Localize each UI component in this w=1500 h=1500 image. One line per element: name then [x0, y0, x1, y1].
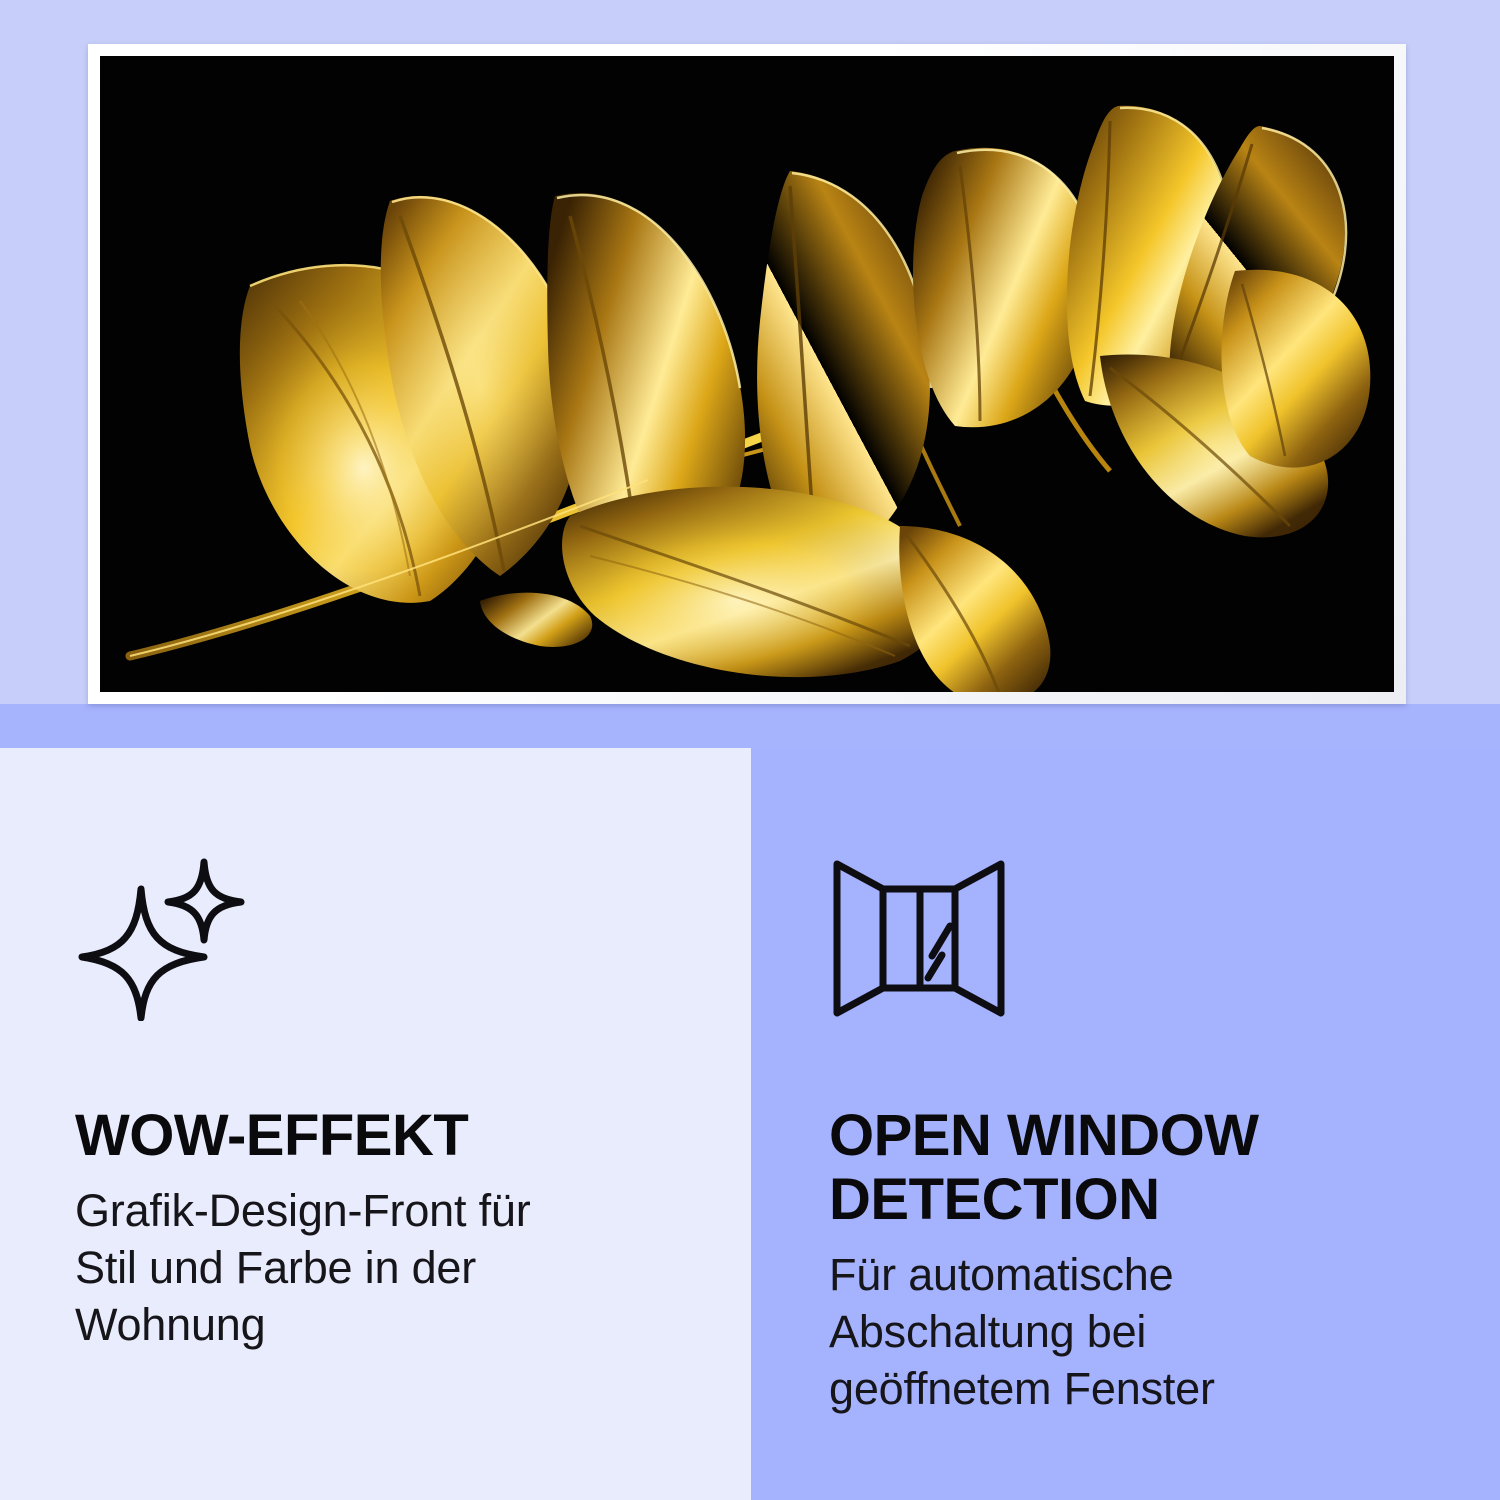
product-feature-page: WOW-EFFEKT Grafik-Design-Front für Stil …: [0, 0, 1500, 1500]
feature-description: Grafik-Design-Front für Stil und Farbe i…: [75, 1182, 545, 1353]
feature-panel-wow-effekt: WOW-EFFEKT Grafik-Design-Front für Stil …: [0, 748, 751, 1500]
feature-title: OPEN WINDOW DETECTION: [829, 1104, 1349, 1232]
feature-panel-open-window-detection: OPEN WINDOW DETECTION Für automatische A…: [751, 748, 1500, 1500]
artwork-canvas: [100, 56, 1394, 692]
features-section: WOW-EFFEKT Grafik-Design-Front für Stil …: [0, 748, 1500, 1500]
golden-leaves-image: [100, 56, 1394, 692]
hero-bottom-band: [0, 704, 1500, 748]
framed-artwork: [88, 44, 1406, 704]
feature-title: WOW-EFFEKT: [75, 1104, 681, 1168]
sparkle-icon: [75, 856, 681, 1026]
feature-description: Für automatische Abschaltung bei geöffne…: [829, 1246, 1319, 1417]
hero-section: [0, 0, 1500, 748]
open-window-icon: [829, 856, 1430, 1026]
